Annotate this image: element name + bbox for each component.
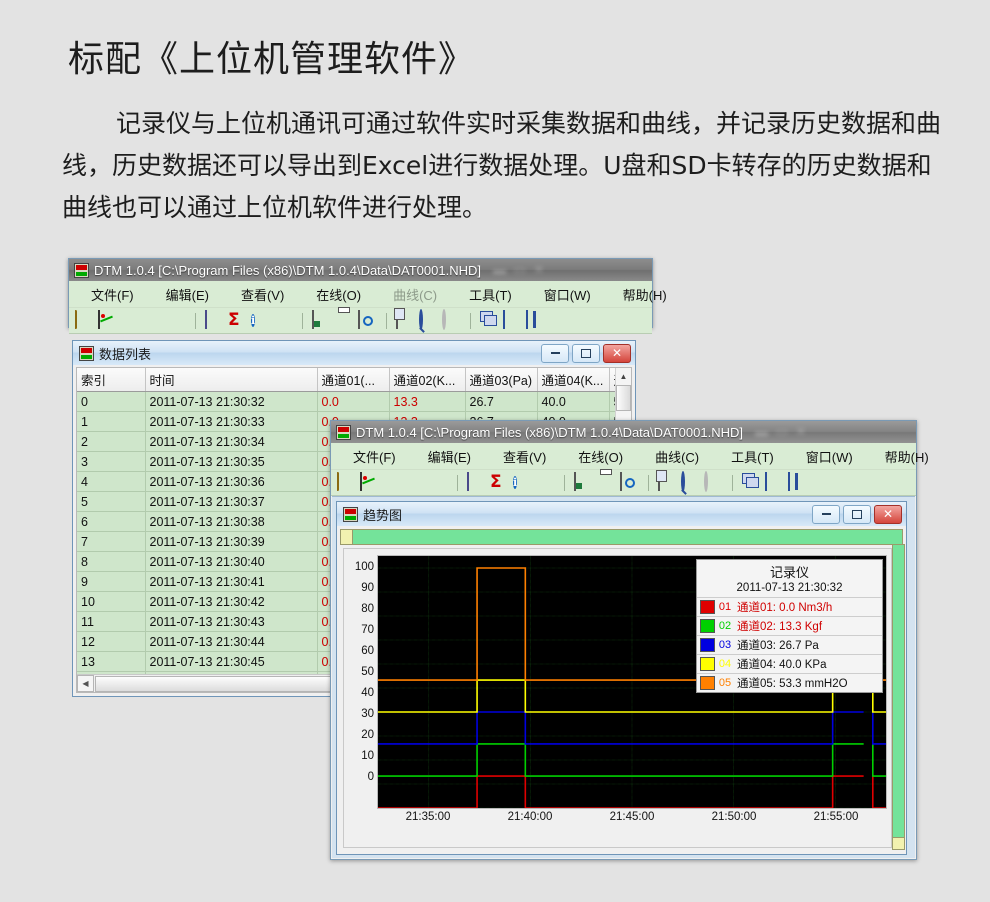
record-circle-icon	[383, 473, 402, 492]
table-cell: 7	[77, 532, 145, 552]
cascade-windows-icon[interactable]	[742, 473, 761, 492]
data-grid-icon[interactable]	[205, 311, 224, 330]
toolbar-separator	[302, 313, 303, 329]
table-header-row: 索引 时间 通道01(... 通道02(K... 通道03(Pa) 通道04(K…	[77, 368, 615, 392]
print-preview-icon[interactable]	[358, 311, 377, 330]
x-axis-tick-label: 21:40:00	[508, 811, 553, 823]
copy-icon[interactable]	[658, 473, 677, 492]
legend-subtitle: 2011-07-13 21:30:32	[697, 581, 882, 597]
legend-row[interactable]: 02通道02: 13.3 Kgf	[697, 616, 882, 635]
zoom-in-icon[interactable]	[681, 473, 700, 492]
print-icon[interactable]	[597, 473, 616, 492]
y-axis-tick-label: 20	[346, 729, 374, 741]
legend-channel-id: 02	[715, 620, 735, 632]
legend-channel-text: 通道05: 53.3 mmH2O	[735, 675, 848, 691]
table-cell: 2011-07-13 21:30:33	[145, 412, 317, 432]
dtm-app-icon	[336, 425, 351, 440]
print-icon[interactable]	[335, 311, 354, 330]
menu-item-view[interactable]: 查看(V)	[241, 285, 284, 304]
y-axis-tick-label: 10	[346, 750, 374, 762]
stop-circle-icon	[144, 311, 163, 330]
export-excel-icon[interactable]	[574, 473, 593, 492]
table-cell: 1	[77, 412, 145, 432]
table-cell: 6	[77, 512, 145, 532]
table-cell: 2011-07-13 21:30:40	[145, 552, 317, 572]
titlebar-front[interactable]: DTM 1.0.4 [C:\Program Files (x86)\DTM 1.…	[331, 421, 916, 443]
menu-item-window[interactable]: 窗口(W)	[544, 285, 591, 304]
minimize-button[interactable]	[812, 505, 840, 524]
toolbar-separator	[386, 313, 387, 329]
minimize-button[interactable]	[541, 344, 569, 363]
chart-series-line	[378, 712, 864, 744]
data-list-window-buttons[interactable]: ✕	[541, 344, 635, 363]
chart-series-line	[873, 776, 886, 808]
page-title: 标配《上位机管理软件》	[68, 30, 475, 82]
table-cell: 2011-07-13 21:30:35	[145, 452, 317, 472]
table-cell: 2011-07-13 21:30:44	[145, 632, 317, 652]
x-axis-tick-label: 21:35:00	[406, 811, 451, 823]
zoom-out-icon	[442, 311, 461, 330]
dtm-app-icon	[74, 263, 89, 278]
stop-square-icon	[167, 311, 186, 330]
table-cell: 2011-07-13 21:30:38	[145, 512, 317, 532]
print-preview-icon[interactable]	[620, 473, 639, 492]
close-button[interactable]: ✕	[874, 505, 902, 524]
tile-vertical-icon[interactable]	[788, 473, 807, 492]
legend-channel-text: 通道04: 40.0 KPa	[735, 656, 827, 672]
chart-series-line	[378, 776, 864, 808]
menu-item-help[interactable]: 帮助(H)	[885, 447, 929, 466]
data-list-icon	[79, 346, 94, 361]
menu-item-edit[interactable]: 编辑(E)	[428, 447, 471, 466]
vertical-range-scrollbar[interactable]	[892, 544, 905, 850]
table-cell: 8	[77, 552, 145, 572]
tile-vertical-icon[interactable]	[526, 311, 545, 330]
export-excel-icon[interactable]	[312, 311, 331, 330]
menu-item-curve[interactable]: 曲线(C)	[655, 447, 699, 466]
range-scroll-knob[interactable]	[893, 837, 904, 849]
legend-channel-text: 通道03: 26.7 Pa	[735, 637, 819, 653]
table-cell: 2011-07-13 21:30:42	[145, 592, 317, 612]
open-folder-icon[interactable]	[337, 473, 356, 492]
paragraph-text: 记录仪与上位机通讯可通过软件实时采集数据和曲线，并记录历史数据和曲线，历史数据还…	[62, 109, 941, 222]
x-axis-tick-label: 21:55:00	[814, 811, 859, 823]
menu-item-help[interactable]: 帮助(H)	[623, 285, 667, 304]
table-cell: 2011-07-13 21:30:43	[145, 612, 317, 632]
data-list-titlebar[interactable]: 数据列表 ✕	[73, 341, 635, 365]
col-index[interactable]: 索引	[77, 368, 145, 392]
sigma-statistics-icon[interactable]: Σ	[490, 473, 509, 492]
table-row[interactable]: 02011-07-13 21:30:320.013.326.740.053.3	[77, 392, 615, 412]
zoom-out-icon	[704, 473, 723, 492]
dtm-window-back[interactable]: DTM 1.0.4 [C:\Program Files (x86)\DTM 1.…	[68, 258, 653, 328]
toolbar-back[interactable]: Σ i	[69, 308, 652, 334]
legend-channel-text: 通道01: 0.0 Nm3/h	[735, 599, 832, 615]
legend-channel-id: 05	[715, 677, 735, 689]
col-ch01[interactable]: 通道01(...	[317, 368, 389, 392]
table-cell: 40.0	[537, 392, 609, 412]
window-title-front: DTM 1.0.4 [C:\Program Files (x86)\DTM 1.…	[356, 425, 743, 440]
zoom-in-icon[interactable]	[419, 311, 438, 330]
col-ch02[interactable]: 通道02(K...	[389, 368, 465, 392]
chart-legend[interactable]: 记录仪 2011-07-13 21:30:32 01通道01: 0.0 Nm3/…	[696, 559, 883, 693]
legend-color-swatch	[700, 676, 715, 690]
toolbar-separator	[648, 475, 649, 491]
menu-item-file[interactable]: 文件(F)	[353, 447, 396, 466]
x-axis: 21:35:0021:40:0021:45:0021:50:0021:55:00	[377, 811, 887, 827]
table-cell: 0.0	[317, 392, 389, 412]
legend-row[interactable]: 05通道05: 53.3 mmH2O	[697, 673, 882, 692]
menu-item-curve: 曲线(C)	[393, 285, 437, 304]
dtm-window-front[interactable]: DTM 1.0.4 [C:\Program Files (x86)\DTM 1.…	[330, 420, 917, 860]
toolbar-separator	[470, 313, 471, 329]
tile-horizontal-icon[interactable]	[503, 311, 522, 330]
legend-color-swatch	[700, 600, 715, 614]
col-ch03[interactable]: 通道03(Pa)	[465, 368, 537, 392]
stop-square-icon	[429, 473, 448, 492]
table-cell: 4	[77, 472, 145, 492]
curve-chart-icon[interactable]	[360, 473, 379, 492]
record-circle-icon	[121, 311, 140, 330]
table-cell: 26.7	[465, 392, 537, 412]
copy-icon[interactable]	[396, 311, 415, 330]
legend-channel-id: 03	[715, 639, 735, 651]
table-cell: 9	[77, 572, 145, 592]
scroll-left-arrow[interactable]: ◀	[77, 675, 94, 692]
info-icon[interactable]: i	[251, 311, 270, 330]
scroll-thumb[interactable]	[616, 385, 631, 411]
legend-row[interactable]: 01通道01: 0.0 Nm3/h	[697, 597, 882, 616]
y-axis-tick-label: 90	[346, 582, 374, 594]
titlebar-back[interactable]: DTM 1.0.4 [C:\Program Files (x86)\DTM 1.…	[69, 259, 652, 281]
col-ch04[interactable]: 通道04(K...	[537, 368, 609, 392]
table-cell: 2011-07-13 21:30:37	[145, 492, 317, 512]
pie-chart-icon[interactable]	[274, 311, 293, 330]
time-scroll-knob[interactable]	[341, 530, 353, 544]
toolbar-separator	[732, 475, 733, 491]
menu-item-file[interactable]: 文件(F)	[91, 285, 134, 304]
legend-color-swatch	[700, 657, 715, 671]
trend-chart-titlebar[interactable]: 趋势图 ✕	[337, 502, 906, 526]
chart-series-line	[873, 744, 886, 776]
table-cell: 2011-07-13 21:30:32	[145, 392, 317, 412]
titlebar-ghost-buttons: ▬ ▭ ✕	[755, 424, 808, 440]
sigma-statistics-icon[interactable]: Σ	[228, 311, 247, 330]
y-axis-tick-label: 60	[346, 645, 374, 657]
open-folder-icon[interactable]	[75, 311, 94, 330]
toolbar-separator	[195, 313, 196, 329]
table-cell: 13	[77, 652, 145, 672]
table-cell: 2011-07-13 21:30:39	[145, 532, 317, 552]
stop-circle-icon	[406, 473, 425, 492]
table-cell: 3	[77, 452, 145, 472]
chart-series-line	[873, 712, 886, 744]
trend-chart-title: 趋势图	[363, 505, 402, 524]
y-axis: 0102030405060708090100	[344, 549, 374, 847]
scroll-up-arrow[interactable]: ▲	[617, 369, 631, 383]
table-cell: 0	[77, 392, 145, 412]
y-axis-tick-label: 100	[346, 561, 374, 573]
table-cell: 2011-07-13 21:30:45	[145, 652, 317, 672]
legend-channel-id: 01	[715, 601, 735, 613]
legend-color-swatch	[700, 638, 715, 652]
curve-chart-icon[interactable]	[98, 311, 117, 330]
legend-color-swatch	[700, 619, 715, 633]
info-icon[interactable]: i	[513, 473, 532, 492]
legend-channel-text: 通道02: 13.3 Kgf	[735, 618, 822, 634]
y-axis-tick-label: 30	[346, 708, 374, 720]
titlebar-ghost-buttons: ▬ ▭ ✕	[493, 262, 546, 278]
table-cell: 2011-07-13 21:30:36	[145, 472, 317, 492]
page-paragraph: 记录仪与上位机通讯可通过软件实时采集数据和曲线，并记录历史数据和曲线，历史数据还…	[62, 103, 942, 229]
trend-chart-icon	[343, 507, 358, 522]
col-time[interactable]: 时间	[145, 368, 317, 392]
table-cell: 11	[77, 612, 145, 632]
y-axis-tick-label: 40	[346, 687, 374, 699]
menu-item-window[interactable]: 窗口(W)	[806, 447, 853, 466]
menubar-front[interactable]: 文件(F) 编辑(E) 查看(V) 在线(O) 曲线(C) 工具(T) 窗口(W…	[331, 443, 916, 470]
table-cell: 12	[77, 632, 145, 652]
table-cell: 2	[77, 432, 145, 452]
table-cell: 13.3	[389, 392, 465, 412]
maximize-button[interactable]	[572, 344, 600, 363]
menu-item-edit[interactable]: 编辑(E)	[166, 285, 209, 304]
menu-item-online[interactable]: 在线(O)	[578, 447, 623, 466]
trend-chart-window-buttons[interactable]: ✕	[812, 505, 906, 524]
maximize-button[interactable]	[843, 505, 871, 524]
chart-plot-frame: 0102030405060708090100 21:35:0021:40:002…	[343, 548, 892, 848]
table-cell: 2011-07-13 21:30:41	[145, 572, 317, 592]
table-cell: 10	[77, 592, 145, 612]
x-axis-tick-label: 21:45:00	[610, 811, 655, 823]
window-title-back: DTM 1.0.4 [C:\Program Files (x86)\DTM 1.…	[94, 263, 481, 278]
pie-chart-icon[interactable]	[536, 473, 555, 492]
x-axis-tick-label: 21:50:00	[712, 811, 757, 823]
data-grid-icon[interactable]	[467, 473, 486, 492]
close-button[interactable]: ✕	[603, 344, 631, 363]
y-axis-tick-label: 50	[346, 666, 374, 678]
table-cell: 5	[77, 492, 145, 512]
menu-item-tools[interactable]: 工具(T)	[731, 447, 774, 466]
y-axis-tick-label: 0	[346, 771, 374, 783]
trend-chart-window[interactable]: 趋势图 ✕ 0102030405060708090100	[336, 501, 907, 855]
horizontal-time-scrollbar[interactable]	[340, 529, 903, 545]
y-axis-tick-label: 70	[346, 624, 374, 636]
toolbar-separator	[457, 475, 458, 491]
menu-item-online[interactable]: 在线(O)	[316, 285, 361, 304]
legend-title: 记录仪	[697, 560, 882, 581]
data-list-title: 数据列表	[99, 344, 151, 363]
cascade-windows-icon[interactable]	[480, 311, 499, 330]
menu-item-tools[interactable]: 工具(T)	[469, 285, 512, 304]
menubar-back[interactable]: 文件(F) 编辑(E) 查看(V) 在线(O) 曲线(C) 工具(T) 窗口(W…	[69, 281, 652, 308]
legend-row[interactable]: 03通道03: 26.7 Pa	[697, 635, 882, 654]
toolbar-front[interactable]: Σ i	[331, 470, 916, 496]
menu-item-view[interactable]: 查看(V)	[503, 447, 546, 466]
y-axis-tick-label: 80	[346, 603, 374, 615]
toolbar-separator	[564, 475, 565, 491]
tile-horizontal-icon[interactable]	[765, 473, 784, 492]
table-cell: 2011-07-13 21:30:34	[145, 432, 317, 452]
legend-row[interactable]: 04通道04: 40.0 KPa	[697, 654, 882, 673]
legend-channel-id: 04	[715, 658, 735, 670]
